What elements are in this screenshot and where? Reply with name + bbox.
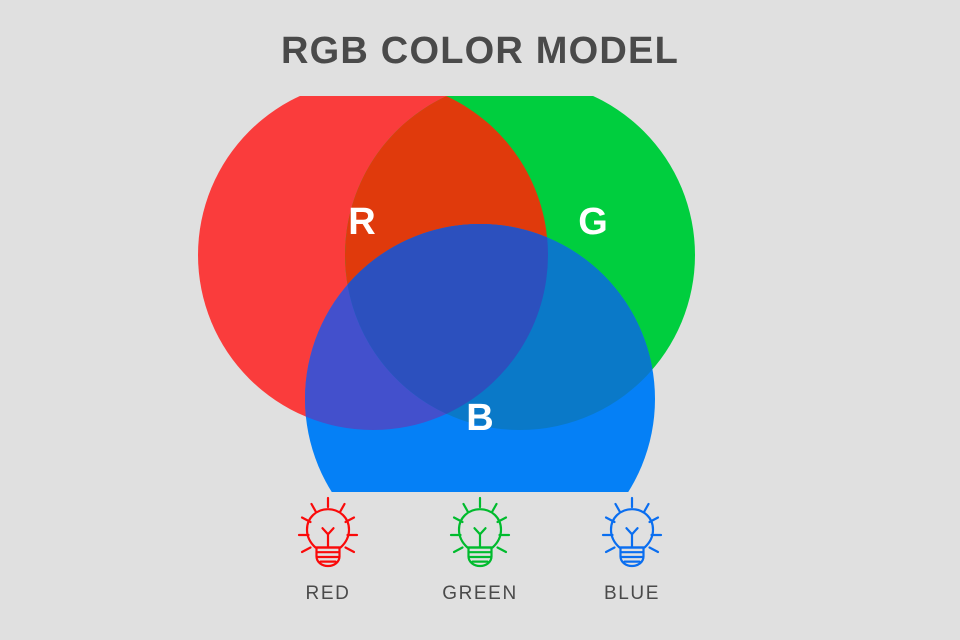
light-bulb-icon [601,496,663,568]
legend-label-red: RED [306,584,351,603]
page-title: RGB COLOR MODEL [0,32,960,70]
venn-label-red: R [348,201,375,243]
venn-diagram: R G B [0,96,960,492]
rgb-color-model-infographic: RGB COLOR MODEL [0,0,960,640]
legend-label-green: GREEN [442,584,518,603]
venn-label-blue: B [466,397,493,439]
legend-item-red: RED [252,496,404,603]
venn-label-green: G [578,201,608,243]
light-bulb-icon [449,496,511,568]
legend-label-blue: BLUE [604,584,660,603]
legend: RED [0,496,960,628]
legend-item-green: GREEN [404,496,556,603]
light-bulb-icon [297,496,359,568]
legend-item-blue: BLUE [556,496,708,603]
